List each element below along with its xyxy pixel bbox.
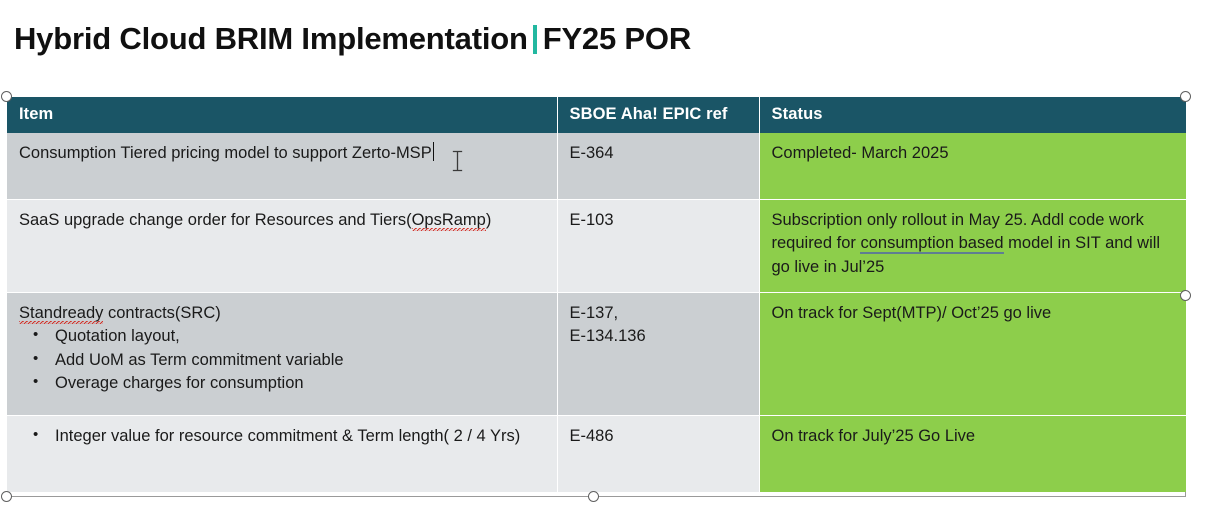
list-item: Add UoM as Term commitment variable (41, 349, 545, 372)
item-text-suffix: MSP (396, 144, 432, 162)
grammar-flagged-phrase: consumption based (860, 234, 1003, 254)
resize-handle-top-left[interactable] (1, 91, 12, 102)
column-header-item[interactable]: Item (7, 97, 557, 133)
item-bullet-list: Integer value for resource commitment & … (19, 425, 545, 448)
cell-status[interactable]: On track for July’25 Go Live (759, 416, 1186, 493)
title-suffix-text: FY25 POR (543, 21, 691, 57)
table-row[interactable]: Integer value for resource commitment & … (7, 416, 1186, 493)
cell-status[interactable]: On track for Sept(MTP)/ Oct’25 go live (759, 293, 1186, 416)
item-text-prefix: Consumption Tiered pricing model to supp… (19, 144, 390, 162)
slide-title: Hybrid Cloud BRIM ImplementationFY25 POR (14, 16, 691, 62)
item-bullet-list: Quotation layout, Add UoM as Term commit… (19, 325, 545, 395)
list-item: Quotation layout, (41, 325, 545, 348)
cell-item[interactable]: SaaS upgrade change order for Resources … (7, 200, 557, 293)
resize-handle-middle-right[interactable] (1180, 290, 1191, 301)
list-item: Overage charges for consumption (41, 372, 545, 395)
item-text-line2-tail: ) (486, 211, 492, 229)
table-row[interactable]: Standready contracts(SRC) Quotation layo… (7, 293, 1186, 416)
epic-ref-line: E-134.136 (570, 325, 747, 348)
por-table[interactable]: Item SBOE Aha! EPIC ref Status Consumpti… (7, 97, 1186, 492)
cell-status[interactable]: Completed- March 2025 (759, 133, 1186, 200)
misspelled-word: Standready (19, 304, 103, 324)
epic-ref-line: E-137, (570, 302, 747, 325)
cell-item[interactable]: Standready contracts(SRC) Quotation layo… (7, 293, 557, 416)
resize-handle-bottom-center[interactable] (588, 491, 599, 502)
table-object[interactable]: Item SBOE Aha! EPIC ref Status Consumpti… (7, 97, 1186, 497)
table-header-row: Item SBOE Aha! EPIC ref Status (7, 97, 1186, 133)
cell-epic[interactable]: E-103 (557, 200, 759, 293)
title-main-text: Hybrid Cloud BRIM Implementation (14, 21, 528, 57)
resize-handle-top-right[interactable] (1180, 91, 1191, 102)
cell-epic[interactable]: E-137, E-134.136 (557, 293, 759, 416)
item-heading: Standready contracts(SRC) (19, 302, 545, 325)
item-text-line1: SaaS upgrade change order for Resources … (19, 211, 412, 229)
misspelled-word: OpsRamp (412, 211, 486, 231)
item-heading-tail: contracts(SRC) (103, 304, 220, 322)
table-row[interactable]: SaaS upgrade change order for Resources … (7, 200, 1186, 293)
resize-handle-bottom-left[interactable] (1, 491, 12, 502)
cell-item[interactable]: Consumption Tiered pricing model to supp… (7, 133, 557, 200)
cell-epic[interactable]: E-486 (557, 416, 759, 493)
column-header-status[interactable]: Status (759, 97, 1186, 133)
cell-epic[interactable]: E-364 (557, 133, 759, 200)
cell-status[interactable]: Subscription only rollout in May 25. Add… (759, 200, 1186, 293)
title-separator-bar (533, 25, 537, 54)
cell-item[interactable]: Integer value for resource commitment & … (7, 416, 557, 493)
list-item: Integer value for resource commitment & … (41, 425, 545, 448)
text-caret (433, 142, 435, 161)
table-row[interactable]: Consumption Tiered pricing model to supp… (7, 133, 1186, 200)
column-header-epic[interactable]: SBOE Aha! EPIC ref (557, 97, 759, 133)
